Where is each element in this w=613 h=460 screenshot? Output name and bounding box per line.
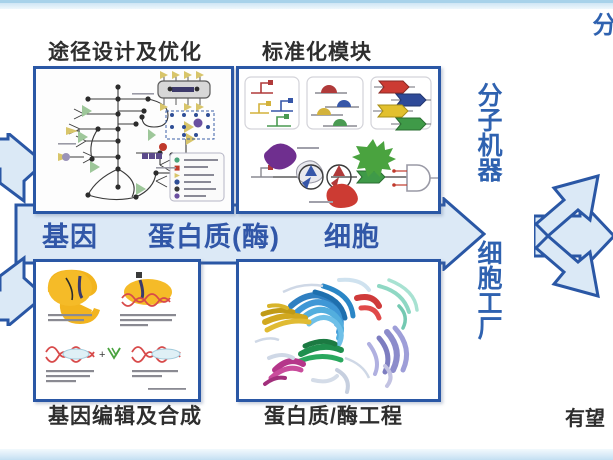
vertical-label-cell-factory: 细胞工厂 <box>473 240 503 340</box>
panel-caption-protein: 蛋白质/酶工程 <box>264 400 403 430</box>
clipped-corner-glyph: 分 <box>584 12 613 36</box>
top-accent-line <box>0 0 613 3</box>
panel-title-pathway: 途径设计及优化 <box>48 36 202 66</box>
bottom-decorative-band <box>0 449 613 460</box>
panel-pathway-design[interactable] <box>33 66 234 214</box>
hope-text-clipped: 有望 <box>565 402 605 431</box>
slide-canvas: 基因 蛋白质(酶) 细胞 途径设计及优化 <box>0 0 613 460</box>
three-way-outflow-arrow <box>534 138 613 334</box>
panel-title-module: 标准化模块 <box>262 36 372 66</box>
vertical-label-molecular-machine: 分子机器 <box>473 82 503 182</box>
panel-caption-gene-editing: 基因编辑及合成 <box>48 400 202 430</box>
panel-gene-editing[interactable]: + <box>33 259 201 402</box>
panel-standard-modules[interactable] <box>236 66 441 214</box>
panel-protein-engineering[interactable] <box>236 259 441 402</box>
svg-text:+: + <box>99 349 105 361</box>
